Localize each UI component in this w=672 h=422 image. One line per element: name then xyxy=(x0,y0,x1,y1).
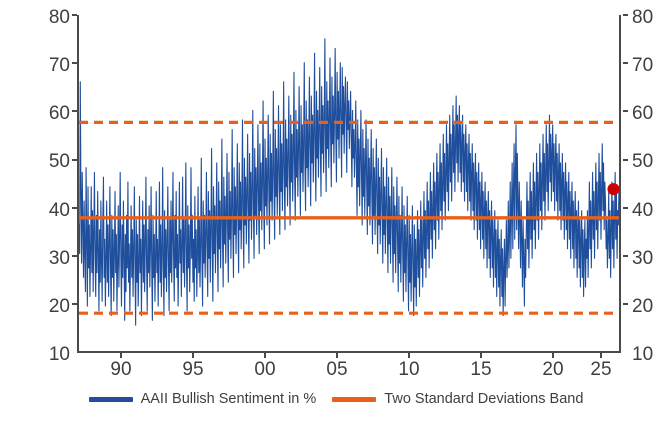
legend-label-sentiment: AAII Bullish Sentiment in % xyxy=(141,392,317,407)
legend-swatch-band-icon xyxy=(332,397,376,402)
x-axis-label-20: 20 xyxy=(533,360,573,379)
y-axis-right-label-70: 70 xyxy=(632,56,666,75)
x-tick-2015 xyxy=(480,353,482,358)
y-axis-right-label-80: 80 xyxy=(632,8,666,27)
y-axis-right-label-60: 60 xyxy=(632,104,666,123)
y-tick-right-40 xyxy=(623,207,628,209)
y-tick-right-50 xyxy=(623,159,628,161)
x-axis-label-00: 00 xyxy=(245,360,285,379)
x-tick-2025 xyxy=(600,353,602,358)
x-tick-2000 xyxy=(264,353,266,358)
y-tick-right-30 xyxy=(623,255,628,257)
y-axis-right-label-10: 10 xyxy=(632,345,666,364)
y-axis-right-label-40: 40 xyxy=(632,201,666,220)
x-tick-1990 xyxy=(120,353,122,358)
chart-container: 80 70 60 50 40 30 20 10 80 70 60 50 40 3… xyxy=(0,0,672,422)
y-tick-right-60 xyxy=(623,110,628,112)
y-axis-left-label-20: 20 xyxy=(36,297,70,316)
chart-svg xyxy=(79,15,619,349)
y-axis-left-label-40: 40 xyxy=(36,201,70,220)
y-axis-left-label-60: 60 xyxy=(36,104,70,123)
legend-item-band: Two Standard Deviations Band xyxy=(332,392,583,407)
x-tick-1995 xyxy=(192,353,194,358)
series-group xyxy=(79,39,619,325)
x-tick-2020 xyxy=(552,353,554,358)
y-tick-right-80 xyxy=(623,14,628,16)
plot-area xyxy=(77,15,621,353)
y-tick-right-20 xyxy=(623,303,628,305)
y-axis-left-label-10: 10 xyxy=(36,345,70,364)
x-axis-label-10: 10 xyxy=(389,360,429,379)
x-axis-label-90: 90 xyxy=(101,360,141,379)
y-axis-right-label-30: 30 xyxy=(632,249,666,268)
y-axis-left-label-50: 50 xyxy=(36,152,70,171)
x-axis-label-25: 25 xyxy=(581,360,621,379)
y-axis-left-label-70: 70 xyxy=(36,56,70,75)
x-axis-label-15: 15 xyxy=(461,360,501,379)
legend-item-sentiment: AAII Bullish Sentiment in % xyxy=(89,392,317,407)
y-axis-left-label-80: 80 xyxy=(36,8,70,27)
x-axis-label-95: 95 xyxy=(173,360,213,379)
y-axis-right-label-50: 50 xyxy=(632,152,666,171)
marker-group xyxy=(607,183,619,195)
x-tick-2010 xyxy=(408,353,410,358)
series-line-aaii-bullish-sentiment xyxy=(79,39,619,325)
legend-swatch-sentiment-icon xyxy=(89,397,133,402)
x-tick-2005 xyxy=(336,353,338,358)
chart-legend: AAII Bullish Sentiment in % Two Standard… xyxy=(0,386,672,412)
y-axis-left-label-30: 30 xyxy=(36,249,70,268)
current-value-marker xyxy=(607,183,619,195)
y-axis-right-label-20: 20 xyxy=(632,297,666,316)
x-axis-label-05: 05 xyxy=(317,360,357,379)
y-tick-right-70 xyxy=(623,62,628,64)
legend-label-band: Two Standard Deviations Band xyxy=(384,392,583,407)
reference-lines-group xyxy=(79,122,619,313)
